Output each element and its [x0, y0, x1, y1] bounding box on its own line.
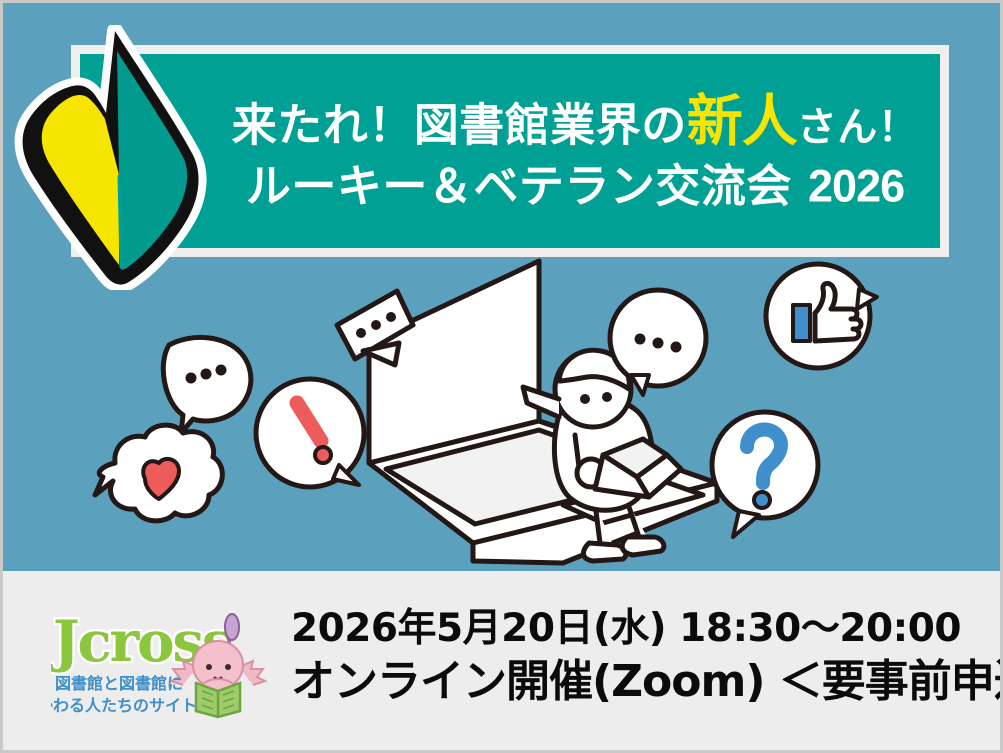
event-flyer: 来たれ！図書館業界の新人さん！ ルーキー＆ベテラン交流会 2026 — [0, 0, 1003, 753]
heart-bubble-cloud — [95, 425, 222, 521]
title-line-2: ルーキー＆ベテラン交流会 2026 — [210, 159, 940, 212]
exclamation-bubble — [256, 379, 364, 487]
event-datetime: 2026年5月20日(水) 18:30〜20:00 — [291, 607, 991, 652]
dots-bubble-small-left — [163, 337, 251, 433]
jcross-tagline-line2: かかわる人たちのサイト — [51, 696, 197, 715]
dots-bubble-right — [610, 290, 706, 395]
event-venue: オンライン開催(Zoom) ＜要事前申込＞ — [291, 656, 991, 709]
thumbs-up-bubble — [766, 264, 877, 368]
title-line1-before: 来たれ！図書館業界の — [232, 98, 687, 151]
event-info-text: 2026年5月20日(水) 18:30〜20:00 オンライン開催(Zoom) … — [291, 607, 991, 709]
title-line2-text: ルーキー＆ベテラン交流会 — [246, 159, 792, 212]
person-figure — [523, 350, 681, 561]
info-band: Jcross Jcross — [3, 571, 1003, 753]
question-bubble — [712, 412, 818, 537]
jcross-logo[interactable]: Jcross Jcross — [51, 609, 291, 721]
title-line2-year: 2026 — [808, 160, 904, 211]
title-line-1: 来たれ！図書館業界の新人さん！ — [210, 89, 940, 155]
shoshinsha-beginner-mark-icon — [7, 25, 217, 290]
jcross-tagline-line1: 図書館と図書館に — [55, 674, 183, 693]
title-line1-highlight: 新人 — [687, 89, 797, 154]
big-laptop — [369, 261, 717, 563]
dots-bubble-rectangular — [337, 291, 413, 365]
title-line1-after: さん！ — [797, 104, 919, 150]
hero-section: 来たれ！図書館業界の新人さん！ ルーキー＆ベテラン交流会 2026 — [3, 3, 1003, 571]
